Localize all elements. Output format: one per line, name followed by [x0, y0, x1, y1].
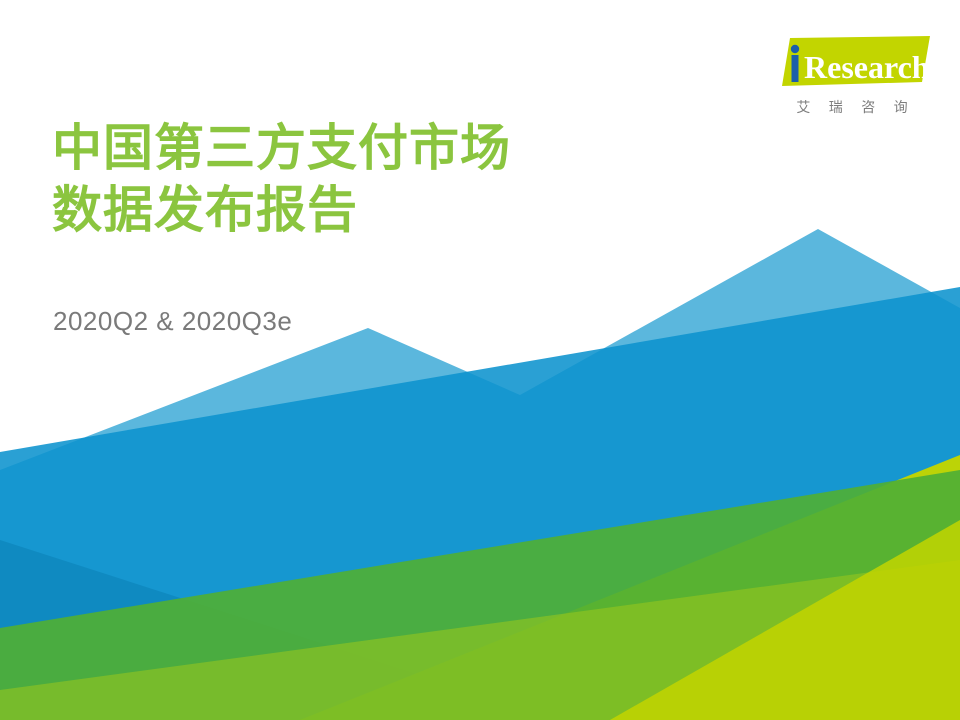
- page-title: 中国第三方支付市场 数据发布报告: [52, 117, 672, 241]
- logo-i-stem-icon: [792, 55, 799, 82]
- title-line-2: 数据发布报告: [52, 179, 672, 241]
- logo-wordmark: Research: [804, 49, 930, 85]
- logo-subtitle: 艾 瑞 咨 询: [772, 97, 932, 117]
- title-slide: Research 艾 瑞 咨 询 中国第三方支付市场 数据发布报告 2020Q2…: [0, 0, 960, 720]
- logo-i-dot-icon: [791, 45, 799, 53]
- iresearch-logo-icon: Research: [772, 36, 932, 90]
- report-period-subtitle: 2020Q2 & 2020Q3e: [53, 306, 292, 337]
- brand-logo: Research 艾 瑞 咨 询: [772, 36, 932, 117]
- title-line-1: 中国第三方支付市场: [52, 117, 672, 179]
